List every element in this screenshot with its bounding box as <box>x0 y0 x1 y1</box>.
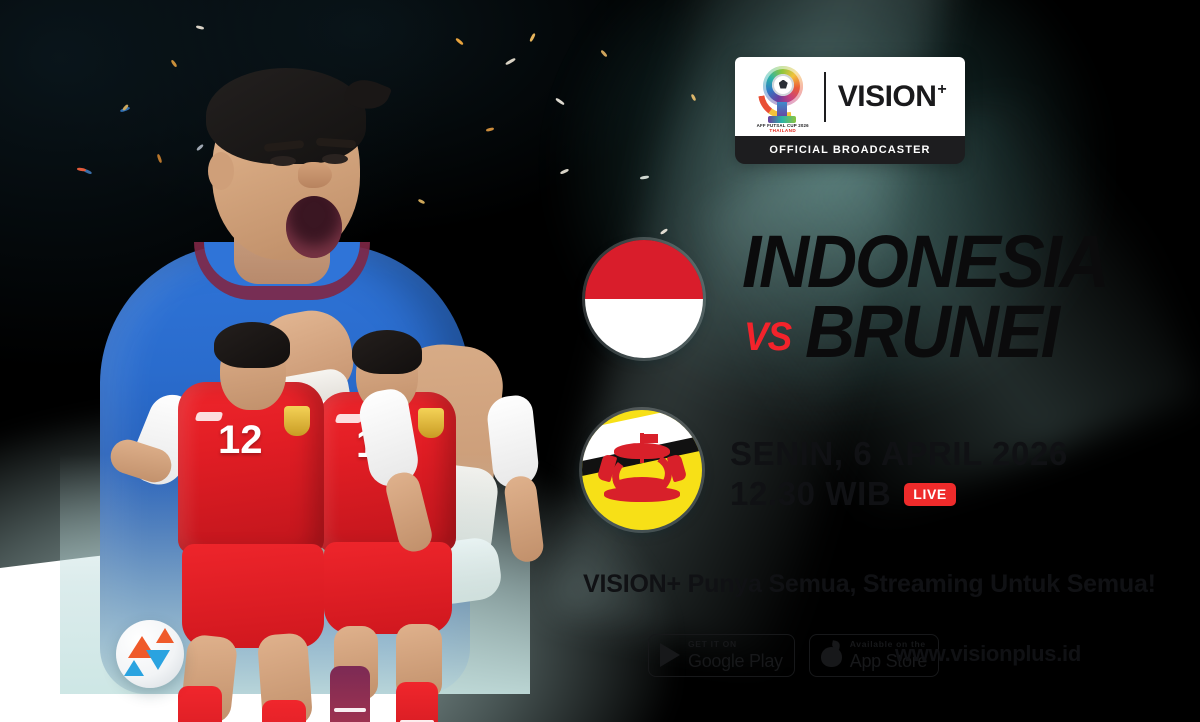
confetti-particle <box>505 57 516 65</box>
badge-divider <box>824 72 826 122</box>
player-14-jersey <box>318 392 456 552</box>
away-team-name: BRUNEI <box>805 298 1058 366</box>
hero-player-eye <box>270 156 296 166</box>
trophy-base <box>768 116 796 123</box>
player-12-number: 12 <box>218 418 263 463</box>
hero-player-eyebrow <box>264 140 305 152</box>
player-14-head <box>356 336 418 412</box>
player-14-sleeve-right <box>485 394 540 490</box>
hero-player-nose <box>298 162 332 188</box>
home-team-name: INDONESIA <box>742 228 1107 296</box>
player-12-sleeve-left <box>125 388 208 493</box>
google-play-icon <box>660 643 680 667</box>
aff-futsal-cup-trophy-icon: AFF FUTSAL CUP 2026 THAILAND <box>754 64 812 130</box>
brunei-flag-icon <box>582 410 702 530</box>
player-12-forearm-right <box>383 469 435 555</box>
confetti-particle <box>455 37 464 45</box>
vision-wordmark: VISION <box>838 80 937 114</box>
tournament-name-line2: THAILAND <box>754 128 812 133</box>
hero-player-hair <box>206 68 366 164</box>
broadcaster-badge-top: AFF FUTSAL CUP 2026 THAILAND VISION + <box>735 57 965 136</box>
player-14-crest <box>418 408 444 438</box>
apple-icon <box>821 642 842 667</box>
google-play-small-label: GET IT ON <box>688 640 783 649</box>
confetti-particle <box>486 127 495 132</box>
versus-label: VS <box>744 317 791 366</box>
confetti-particle <box>196 25 205 30</box>
player-12-sleeve-right <box>356 386 422 489</box>
hero-player-collar <box>194 242 370 300</box>
player-14-sleeve-left <box>288 398 342 498</box>
crest-ribbon <box>604 487 680 502</box>
confetti-particle <box>640 175 649 180</box>
official-broadcaster-label: OFFICIAL BROADCASTER <box>769 144 930 156</box>
hero-player-ear <box>208 152 234 190</box>
vision-plus-symbol: + <box>937 82 946 98</box>
player-12-forearm-left <box>106 435 175 486</box>
player-12-crest <box>284 406 310 436</box>
hero-player-fist <box>249 304 358 405</box>
crest-pennant <box>644 434 658 443</box>
hero-player-mouth <box>286 196 342 258</box>
confetti-particle <box>560 168 569 175</box>
match-promo-banner: 1 14 <box>0 0 1200 722</box>
brunei-flag-crest <box>598 433 686 511</box>
tagline: VISION+ Punya Semua, Streaming Untuk Sem… <box>583 570 1156 599</box>
indonesia-flag-white-band <box>585 299 703 358</box>
hero-player-collar-inner <box>204 242 360 286</box>
indonesia-flag-icon <box>585 240 703 358</box>
match-time-row: 12.30 WIB LIVE <box>730 474 1068 514</box>
hero-player-wristband <box>255 366 354 429</box>
official-broadcaster-badge: AFF FUTSAL CUP 2026 THAILAND VISION + OF… <box>735 57 965 164</box>
hero-player-hand-tape <box>384 458 501 580</box>
player-14-number: 14 <box>356 422 401 467</box>
confetti-particle <box>555 97 565 105</box>
player-14-forearm-right <box>503 474 545 563</box>
hero-player-number: 1 <box>290 416 367 589</box>
player-14-forearm-left <box>282 479 323 568</box>
hero-player-hair-tuft <box>342 73 392 117</box>
confetti-particle <box>77 167 86 171</box>
confetti-particle <box>418 199 426 205</box>
hero-player-head <box>212 78 360 260</box>
hero-player-hand-tape-secondary <box>422 535 504 607</box>
player-12-brandmark <box>195 412 224 421</box>
hero-player-neck <box>234 212 330 284</box>
google-play-badge[interactable]: GET IT ON Google Play <box>648 634 795 677</box>
confetti-particle <box>691 94 697 102</box>
match-date: SENIN, 6 APRIL 2026 <box>730 434 1068 474</box>
player-14-brandmark <box>335 414 364 423</box>
confetti-particle <box>529 33 536 42</box>
indonesia-flag-red-band <box>585 240 703 299</box>
hero-player-arm <box>363 339 506 600</box>
vision-plus-logo: VISION + <box>838 80 947 114</box>
hero-player-eye <box>322 154 348 164</box>
confetti-particle <box>600 50 608 58</box>
apple-body <box>821 647 842 667</box>
player-14-hair <box>352 330 422 374</box>
player-12-hair <box>214 322 290 368</box>
player-12-jersey <box>178 382 324 554</box>
match-time: 12.30 WIB <box>730 474 891 514</box>
futsal-ball <box>116 620 184 688</box>
broadcaster-strip: OFFICIAL BROADCASTER <box>735 136 965 164</box>
player-14-sock-right <box>396 682 438 722</box>
confetti-particle <box>170 59 177 67</box>
versus-row: VS BRUNEI <box>742 298 1131 366</box>
player-12-head <box>220 330 286 410</box>
match-datetime: SENIN, 6 APRIL 2026 12.30 WIB LIVE <box>730 434 1068 515</box>
match-headline: INDONESIA VS BRUNEI <box>742 228 1131 366</box>
confetti-particle <box>157 154 163 163</box>
hero-player-eyebrow <box>316 138 356 149</box>
confetti-particle <box>660 228 668 235</box>
player-14-thigh-right <box>396 624 442 700</box>
live-badge: LIVE <box>904 483 956 506</box>
website-url[interactable]: www.visionplus.id <box>895 641 1081 667</box>
google-play-label: Google Play <box>688 652 783 670</box>
confetti-particle <box>196 144 204 152</box>
